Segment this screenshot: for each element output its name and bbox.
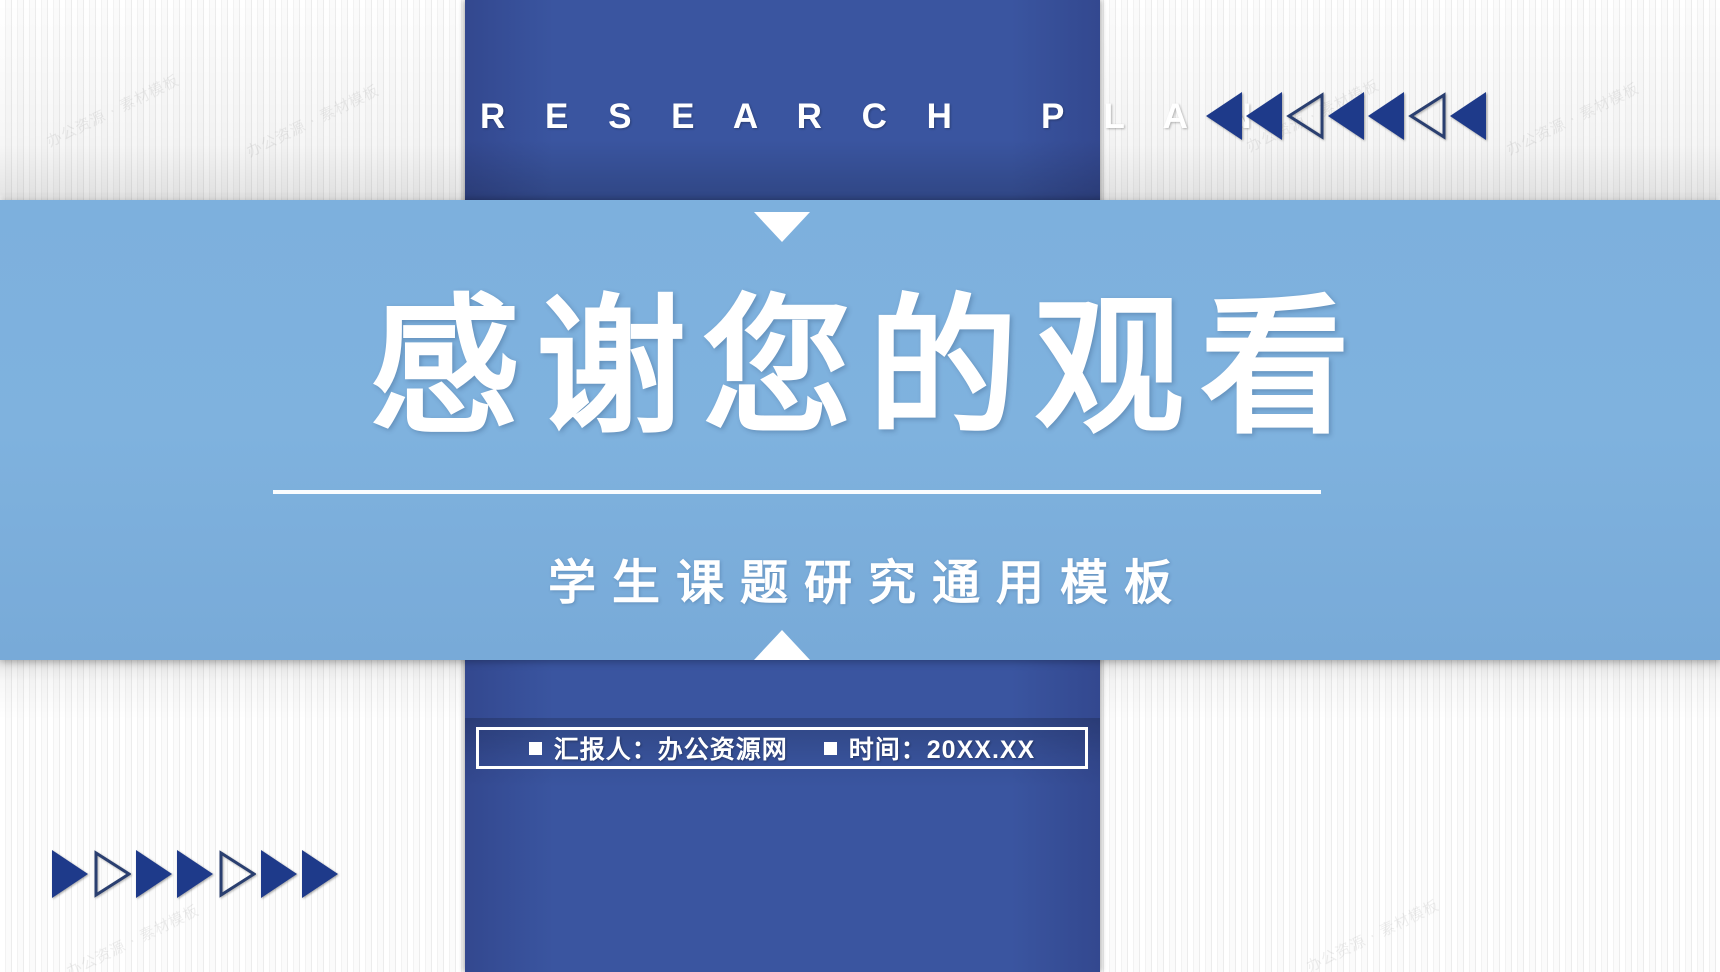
triangle-left-solid-icon xyxy=(1206,92,1242,140)
triangle-right-outline-icon xyxy=(93,850,131,898)
date-label: 时间：20XX.XX xyxy=(849,730,1035,766)
page-subtitle: 学生课题研究通用模板 xyxy=(0,543,1720,613)
title-divider xyxy=(273,490,1321,494)
band-shade-upper xyxy=(465,140,1100,200)
notch-triangle-up-icon xyxy=(754,630,810,660)
triangle-left-outline-icon xyxy=(1408,92,1446,140)
square-bullet-icon xyxy=(824,742,837,755)
triangle-left-outline-icon xyxy=(1286,92,1324,140)
footer-info-box: 汇报人：办公资源网 时间：20XX.XX xyxy=(476,727,1088,769)
triangle-left-solid-icon xyxy=(1450,92,1486,140)
top-right-triangle-decoration xyxy=(1206,92,1486,140)
notch-triangle-down-icon xyxy=(754,212,810,242)
page-title: 感谢您的观看 xyxy=(0,292,1720,442)
presenter-info: 汇报人：办公资源网 xyxy=(529,730,788,766)
triangle-right-solid-icon xyxy=(261,850,297,898)
triangle-left-solid-icon xyxy=(1368,92,1404,140)
date-info: 时间：20XX.XX xyxy=(824,730,1035,766)
bottom-left-triangle-decoration xyxy=(52,850,338,898)
header-title: R E S E A R C H P L A N xyxy=(465,97,1100,137)
presenter-label: 汇报人：办公资源网 xyxy=(554,730,788,766)
triangle-right-solid-icon xyxy=(302,850,338,898)
triangle-left-solid-icon xyxy=(1328,92,1364,140)
triangle-right-solid-icon xyxy=(52,850,88,898)
slide-canvas: 办公资源 · 素材模板 办公资源 · 素材模板 办公资源 · 素材模板 办公资源… xyxy=(0,0,1720,972)
square-bullet-icon xyxy=(529,742,542,755)
triangle-right-outline-icon xyxy=(218,850,256,898)
triangle-left-solid-icon xyxy=(1246,92,1282,140)
triangle-right-solid-icon xyxy=(136,850,172,898)
triangle-right-solid-icon xyxy=(177,850,213,898)
